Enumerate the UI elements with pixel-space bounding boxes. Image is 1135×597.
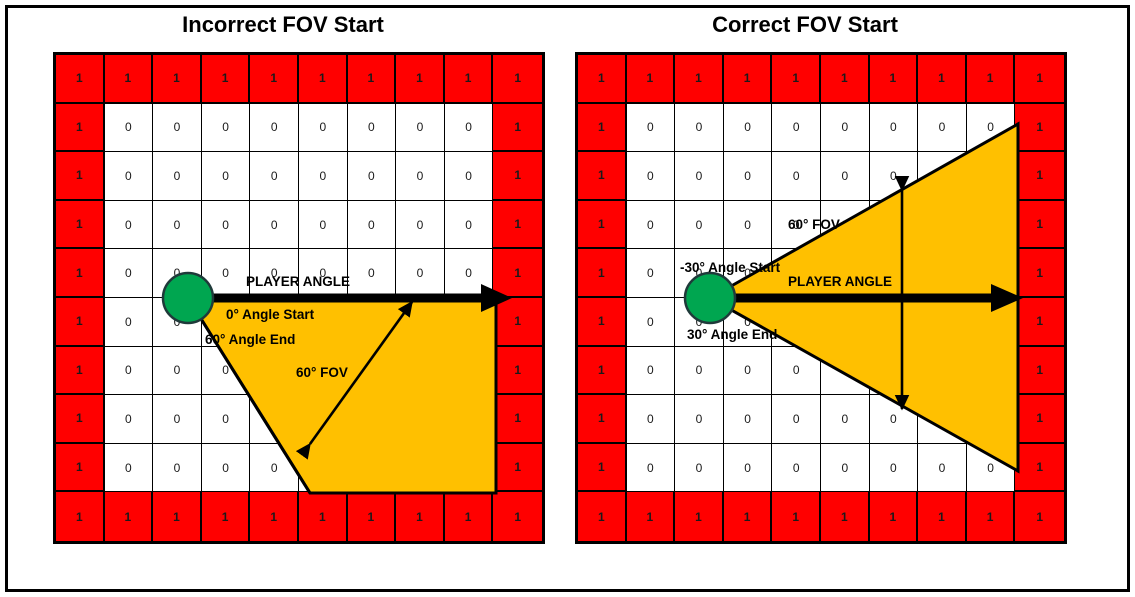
grid-cell-floor: 0: [967, 104, 1016, 153]
grid-cell-floor: 0: [202, 201, 251, 250]
grid-cell-wall: 1: [299, 492, 348, 541]
grid-cell-wall: 1: [105, 55, 154, 104]
grid-cell-wall: 1: [578, 55, 627, 104]
grid-cell-floor: 0: [918, 104, 967, 153]
grid-cell-floor: 0: [870, 298, 919, 347]
grid-cell-floor: 0: [724, 201, 773, 250]
grid-cell-wall: 1: [250, 492, 299, 541]
grid-cell-floor: 0: [724, 444, 773, 493]
grid-cell-floor: 0: [202, 104, 251, 153]
grid-cell-floor: 0: [627, 104, 676, 153]
grid-cell-wall: 1: [1015, 444, 1064, 493]
grid-cell-floor: 0: [627, 444, 676, 493]
grid-cell-wall: 1: [105, 492, 154, 541]
grid-wrapper-correct: 1111111111100000000110000000011000000001…: [575, 52, 1067, 544]
grid-cell-wall: 1: [627, 492, 676, 541]
grid-cell-wall: 1: [250, 55, 299, 104]
grid-cell-wall: 1: [445, 55, 494, 104]
grid-cell-wall: 1: [202, 492, 251, 541]
grid-cell-wall: 1: [445, 492, 494, 541]
grid-cell-floor: 0: [445, 104, 494, 153]
grid-cell-wall: 1: [1015, 347, 1064, 396]
grid-cell-floor: 0: [202, 249, 251, 298]
angle-end-label-correct: 30° Angle End: [687, 327, 777, 342]
player-angle-label-correct: PLAYER ANGLE: [788, 274, 892, 289]
grid-cell-wall: 1: [348, 492, 397, 541]
grid-cell-floor: 0: [627, 347, 676, 396]
grid-cell-floor: 0: [153, 395, 202, 444]
grid-cell-floor: 0: [772, 298, 821, 347]
grid-cell-floor: 0: [675, 152, 724, 201]
grid-cell-floor: 0: [675, 347, 724, 396]
grid-cell-floor: 0: [772, 347, 821, 396]
grid-cell-floor: 0: [348, 395, 397, 444]
grid-cell-floor: 0: [250, 152, 299, 201]
grid-cell-wall: 1: [56, 201, 105, 250]
grid-cell-floor: 0: [821, 298, 870, 347]
panel-title-correct: Correct FOV Start: [535, 12, 1075, 38]
grid-cell-floor: 0: [445, 152, 494, 201]
panel-incorrect-fov: Incorrect FOV Start 11111111111000000001…: [13, 0, 553, 597]
grid-cell-wall: 1: [918, 55, 967, 104]
grid-cell-floor: 0: [105, 152, 154, 201]
grid-cell-wall: 1: [578, 152, 627, 201]
grid-cell-floor: 0: [445, 347, 494, 396]
grid-cell-floor: 0: [918, 347, 967, 396]
grid-cell-wall: 1: [918, 492, 967, 541]
grid-cell-wall: 1: [1015, 249, 1064, 298]
grid-cell-wall: 1: [870, 55, 919, 104]
grid-cell-wall: 1: [153, 492, 202, 541]
grid-cell-floor: 0: [870, 347, 919, 396]
grid-cell-floor: 0: [445, 201, 494, 250]
grid-cell-floor: 0: [918, 395, 967, 444]
grid-cell-floor: 0: [153, 298, 202, 347]
grid-cell-wall: 1: [56, 104, 105, 153]
grid-cell-wall: 1: [724, 492, 773, 541]
grid-cell-floor: 0: [821, 347, 870, 396]
grid-cell-wall: 1: [299, 55, 348, 104]
panel-correct-fov: Correct FOV Start 1111111111100000000110…: [535, 0, 1075, 597]
grid-cell-floor: 0: [299, 444, 348, 493]
grid-cell-floor: 0: [396, 152, 445, 201]
grid-cell-floor: 0: [202, 444, 251, 493]
grid-cell-wall: 1: [578, 201, 627, 250]
fov-span-label-incorrect: 60° FOV: [296, 365, 348, 380]
grid-cell-floor: 0: [202, 347, 251, 396]
grid-cell-floor: 0: [105, 395, 154, 444]
grid-cell-wall: 1: [1015, 104, 1064, 153]
grid-cell-wall: 1: [1015, 492, 1064, 541]
panel-title-incorrect: Incorrect FOV Start: [13, 12, 553, 38]
grid-cell-floor: 0: [918, 298, 967, 347]
grid-cell-floor: 0: [967, 395, 1016, 444]
grid-cell-wall: 1: [348, 55, 397, 104]
grid-cell-floor: 0: [967, 298, 1016, 347]
grid-cell-floor: 0: [250, 104, 299, 153]
grid-cell-floor: 0: [250, 347, 299, 396]
grid-cell-floor: 0: [724, 104, 773, 153]
grid-cell-floor: 0: [675, 201, 724, 250]
grid-cell-floor: 0: [967, 444, 1016, 493]
grid-cell-wall: 1: [396, 55, 445, 104]
grid-cell-floor: 0: [772, 104, 821, 153]
grid-cell-floor: 0: [348, 201, 397, 250]
grid-cell-floor: 0: [724, 152, 773, 201]
grid-cell-floor: 0: [348, 444, 397, 493]
grid-cell-wall: 1: [967, 492, 1016, 541]
grid-cell-wall: 1: [821, 492, 870, 541]
grid-cell-floor: 0: [396, 249, 445, 298]
player-angle-label-incorrect: PLAYER ANGLE: [246, 274, 350, 289]
diagram-page: Incorrect FOV Start 11111111111000000001…: [0, 0, 1135, 597]
grid-cell-floor: 0: [105, 347, 154, 396]
grid-cell-floor: 0: [627, 152, 676, 201]
grid-cell-wall: 1: [1015, 55, 1064, 104]
grid-cell-wall: 1: [578, 104, 627, 153]
grid-cell-wall: 1: [56, 249, 105, 298]
grid-cell-floor: 0: [202, 395, 251, 444]
grid-cell-floor: 0: [299, 201, 348, 250]
grid-cell-floor: 0: [918, 249, 967, 298]
grid-cell-floor: 0: [870, 152, 919, 201]
grid-cell-floor: 0: [348, 298, 397, 347]
grid-cell-floor: 0: [675, 444, 724, 493]
grid-cell-floor: 0: [348, 152, 397, 201]
grid-cell-floor: 0: [396, 347, 445, 396]
grid-cell-floor: 0: [821, 444, 870, 493]
grid-cell-floor: 0: [202, 152, 251, 201]
grid-cell-floor: 0: [627, 298, 676, 347]
grid-cell-wall: 1: [967, 55, 1016, 104]
grid-cell-floor: 0: [445, 249, 494, 298]
grid-cell-floor: 0: [627, 249, 676, 298]
grid-cell-floor: 0: [445, 444, 494, 493]
grid-cell-wall: 1: [1015, 395, 1064, 444]
grid-cell-wall: 1: [821, 55, 870, 104]
grid-cell-wall: 1: [153, 55, 202, 104]
grid-cell-wall: 1: [202, 55, 251, 104]
tile-grid-incorrect: 1111111111100000000110000000011000000001…: [53, 52, 545, 544]
grid-cell-floor: 0: [918, 201, 967, 250]
grid-cell-floor: 0: [445, 298, 494, 347]
grid-cell-wall: 1: [772, 55, 821, 104]
grid-cell-floor: 0: [967, 201, 1016, 250]
grid-cell-wall: 1: [1015, 201, 1064, 250]
grid-cell-floor: 0: [870, 201, 919, 250]
grid-cell-floor: 0: [675, 104, 724, 153]
grid-cell-floor: 0: [918, 444, 967, 493]
grid-cell-floor: 0: [627, 201, 676, 250]
grid-cell-floor: 0: [348, 249, 397, 298]
grid-cell-wall: 1: [56, 298, 105, 347]
grid-cell-wall: 1: [578, 395, 627, 444]
grid-cell-wall: 1: [724, 55, 773, 104]
grid-cell-wall: 1: [1015, 152, 1064, 201]
grid-cell-floor: 0: [396, 444, 445, 493]
grid-cell-wall: 1: [578, 347, 627, 396]
grid-cell-floor: 0: [153, 249, 202, 298]
grid-cell-floor: 0: [821, 152, 870, 201]
angle-end-label-incorrect: 60° Angle End: [205, 332, 295, 347]
grid-cell-wall: 1: [56, 395, 105, 444]
grid-cell-floor: 0: [153, 444, 202, 493]
grid-cell-floor: 0: [105, 104, 154, 153]
grid-cell-wall: 1: [396, 492, 445, 541]
grid-cell-wall: 1: [772, 492, 821, 541]
grid-cell-floor: 0: [153, 347, 202, 396]
grid-cell-wall: 1: [56, 55, 105, 104]
grid-cell-wall: 1: [675, 55, 724, 104]
grid-cell-wall: 1: [56, 152, 105, 201]
grid-cell-wall: 1: [578, 249, 627, 298]
grid-cell-floor: 0: [299, 104, 348, 153]
grid-cell-wall: 1: [56, 347, 105, 396]
grid-cell-wall: 1: [56, 492, 105, 541]
grid-cell-floor: 0: [675, 395, 724, 444]
grid-cell-floor: 0: [445, 395, 494, 444]
grid-cell-wall: 1: [870, 492, 919, 541]
grid-cell-floor: 0: [250, 444, 299, 493]
grid-cell-floor: 0: [299, 298, 348, 347]
grid-cell-floor: 0: [870, 395, 919, 444]
grid-cell-floor: 0: [105, 444, 154, 493]
grid-cell-floor: 0: [870, 104, 919, 153]
grid-cell-floor: 0: [105, 298, 154, 347]
grid-cell-wall: 1: [675, 492, 724, 541]
grid-cell-wall: 1: [578, 444, 627, 493]
grid-cell-floor: 0: [967, 347, 1016, 396]
grid-cell-floor: 0: [153, 152, 202, 201]
grid-cell-floor: 0: [348, 347, 397, 396]
grid-cell-wall: 1: [578, 492, 627, 541]
grid-cell-floor: 0: [724, 347, 773, 396]
grid-cell-floor: 0: [250, 201, 299, 250]
grid-cell-floor: 0: [396, 395, 445, 444]
grid-cell-floor: 0: [153, 201, 202, 250]
grid-cell-wall: 1: [578, 298, 627, 347]
grid-cell-floor: 0: [967, 249, 1016, 298]
grid-cell-floor: 0: [348, 104, 397, 153]
grid-cell-floor: 0: [105, 201, 154, 250]
grid-cell-floor: 0: [772, 395, 821, 444]
grid-cell-floor: 0: [821, 395, 870, 444]
tile-grid-correct: 1111111111100000000110000000011000000001…: [575, 52, 1067, 544]
grid-cell-floor: 0: [772, 444, 821, 493]
grid-cell-floor: 0: [105, 249, 154, 298]
grid-cell-floor: 0: [918, 152, 967, 201]
grid-cell-wall: 1: [56, 444, 105, 493]
grid-cell-floor: 0: [396, 201, 445, 250]
grid-cell-floor: 0: [627, 395, 676, 444]
grid-cell-floor: 0: [724, 395, 773, 444]
angle-start-label-incorrect: 0° Angle Start: [226, 307, 314, 322]
grid-cell-floor: 0: [821, 104, 870, 153]
grid-cell-floor: 0: [299, 152, 348, 201]
grid-cell-floor: 0: [967, 152, 1016, 201]
grid-wrapper-incorrect: 1111111111100000000110000000011000000001…: [53, 52, 545, 544]
grid-cell-wall: 1: [627, 55, 676, 104]
grid-cell-floor: 0: [250, 395, 299, 444]
grid-cell-wall: 1: [1015, 298, 1064, 347]
grid-cell-floor: 0: [299, 395, 348, 444]
grid-cell-floor: 0: [396, 298, 445, 347]
angle-start-label-correct: -30° Angle Start: [680, 260, 780, 275]
fov-span-label-correct: 60° FOV: [788, 217, 840, 232]
grid-cell-floor: 0: [870, 444, 919, 493]
grid-cell-floor: 0: [772, 152, 821, 201]
grid-cell-floor: 0: [396, 104, 445, 153]
grid-cell-floor: 0: [153, 104, 202, 153]
